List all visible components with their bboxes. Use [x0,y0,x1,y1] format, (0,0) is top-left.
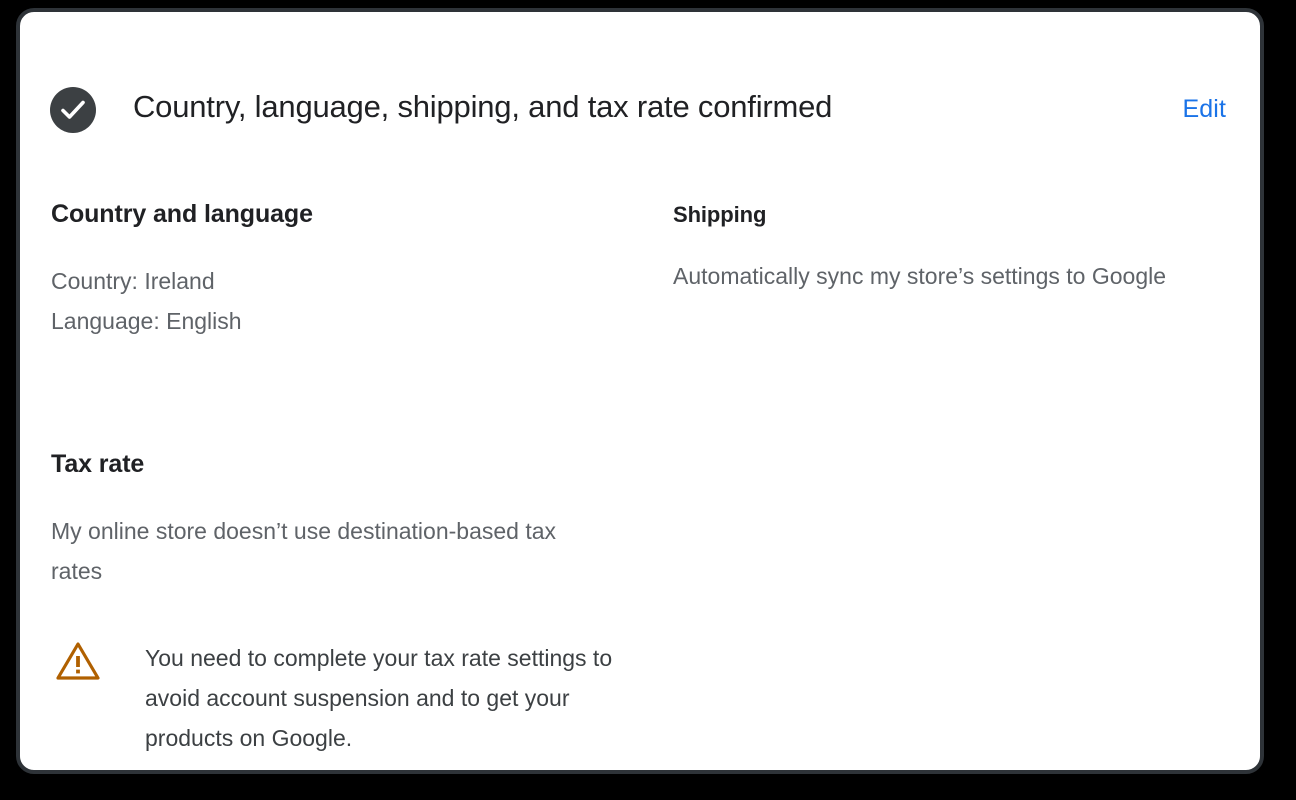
page-title: Country, language, shipping, and tax rat… [133,85,832,129]
settings-summary-card: Country, language, shipping, and tax rat… [16,8,1264,774]
right-column: Shipping Automatically sync my store’s s… [673,198,1233,297]
shipping-value: Automatically sync my store’s settings t… [673,256,1208,297]
edit-button[interactable]: Edit [1183,93,1226,125]
country-and-language-values: Country: Ireland Language: English [51,261,631,341]
warning-triangle-icon [56,641,100,681]
shipping-heading: Shipping [673,200,1233,230]
language-value: Language: English [51,308,242,334]
tax-rate-value: My online store doesn’t use destination-… [51,511,571,591]
left-column: Country and language Country: Ireland La… [51,198,631,758]
country-and-language-heading: Country and language [51,198,631,231]
shipping-section: Shipping Automatically sync my store’s s… [673,200,1233,297]
country-value: Country: Ireland [51,268,215,294]
tax-rate-warning-text: You need to complete your tax rate setti… [145,638,645,758]
country-and-language-section: Country and language Country: Ireland La… [51,198,631,341]
check-circle-icon [50,87,96,133]
card-header: Country, language, shipping, and tax rat… [20,12,1260,172]
tax-rate-heading: Tax rate [51,448,631,481]
tax-rate-section: Tax rate My online store doesn’t use des… [51,448,631,758]
tax-rate-warning: You need to complete your tax rate setti… [51,638,631,758]
